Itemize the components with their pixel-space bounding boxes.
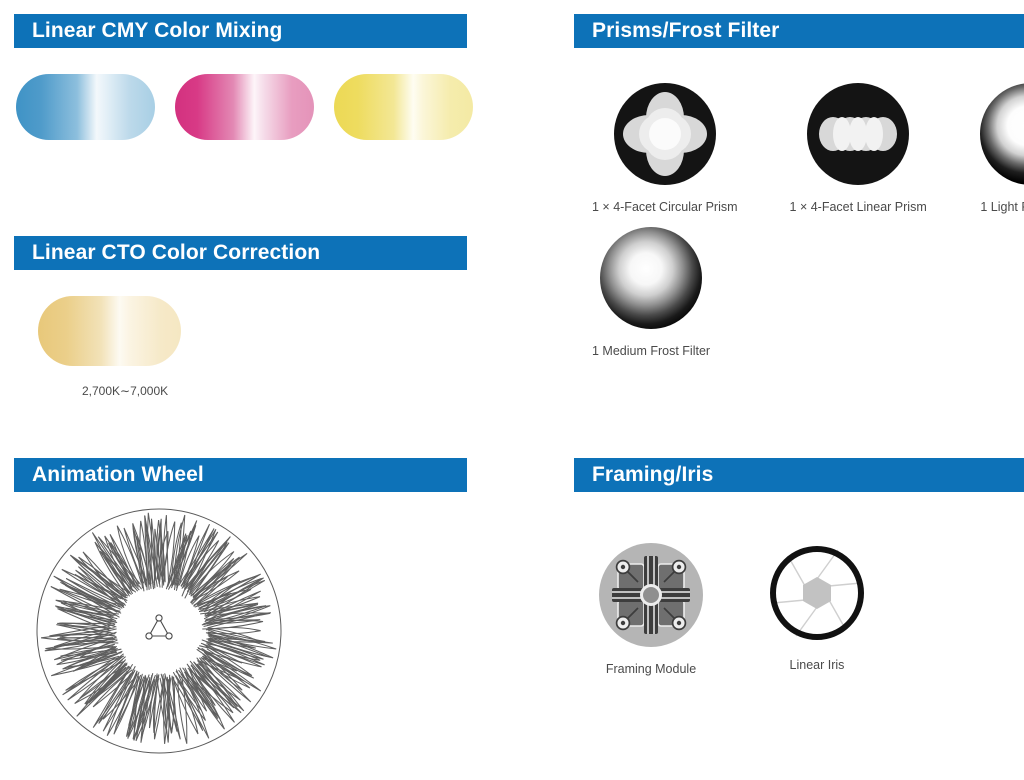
section-title-animation-wheel: Animation Wheel <box>14 458 467 492</box>
cyan-gradient-swatch <box>16 74 155 140</box>
cto-range-label: 2,700K∼7,000K <box>38 384 537 398</box>
section-prisms-frost-filter: Prisms/Frost Filter <box>537 0 1024 222</box>
cto-body: 2,700K∼7,000K <box>14 270 537 398</box>
animation-wheel-body <box>14 492 537 756</box>
section-cto-color-correction: Linear CTO Color Correction 2,700K∼7,000… <box>0 222 537 444</box>
section-framing-iris: Framing/Iris <box>537 444 1024 780</box>
section-title-cmy: Linear CMY Color Mixing <box>14 14 467 48</box>
magenta-gradient-swatch <box>175 74 314 140</box>
caption-linear-prism: 1 × 4-Facet Linear Prism <box>790 200 927 214</box>
prism-tile-row: 1 × 4-Facet Circular Prism <box>574 74 1024 214</box>
linear-iris-icon <box>766 542 868 644</box>
yellow-gradient-swatch <box>334 74 473 140</box>
caption-circular-prism: 1 × 4-Facet Circular Prism <box>592 200 738 214</box>
tile-circular-prism: 1 × 4-Facet Circular Prism <box>592 82 738 214</box>
caption-linear-iris: Linear Iris <box>790 658 845 672</box>
cmy-body <box>14 48 537 140</box>
tile-linear-prism: 1 × 4-Facet Linear Prism <box>790 82 927 214</box>
prisms-spacer <box>537 222 1024 444</box>
tile-linear-iris: Linear Iris <box>766 542 868 672</box>
framing-tile-row: Framing Module <box>574 518 1024 676</box>
linear-prism-icon <box>806 82 910 186</box>
light-frost-icon <box>979 82 1024 186</box>
circular-prism-icon <box>613 82 717 186</box>
section-title-framing-iris: Framing/Iris <box>574 458 1024 492</box>
cmy-swatch-row <box>14 74 537 140</box>
section-title-cto: Linear CTO Color Correction <box>14 236 467 270</box>
caption-light-frost: 1 Light Frost Filter <box>980 200 1024 214</box>
spec-sheet-page: Linear CMY Color Mixing Prisms/Frost Fil… <box>0 0 1024 780</box>
animation-wheel-icon <box>34 506 284 756</box>
tile-framing-module: Framing Module <box>598 542 704 676</box>
framing-body: Framing Module <box>574 492 1024 676</box>
section-cmy-color-mixing: Linear CMY Color Mixing <box>0 0 537 222</box>
tile-light-frost: 1 Light Frost Filter <box>979 82 1024 214</box>
section-animation-wheel: Animation Wheel <box>0 444 537 780</box>
framing-module-icon <box>598 542 704 648</box>
cto-gradient-swatch <box>38 296 181 366</box>
section-title-prisms: Prisms/Frost Filter <box>574 14 1024 48</box>
caption-framing-module: Framing Module <box>606 662 696 676</box>
